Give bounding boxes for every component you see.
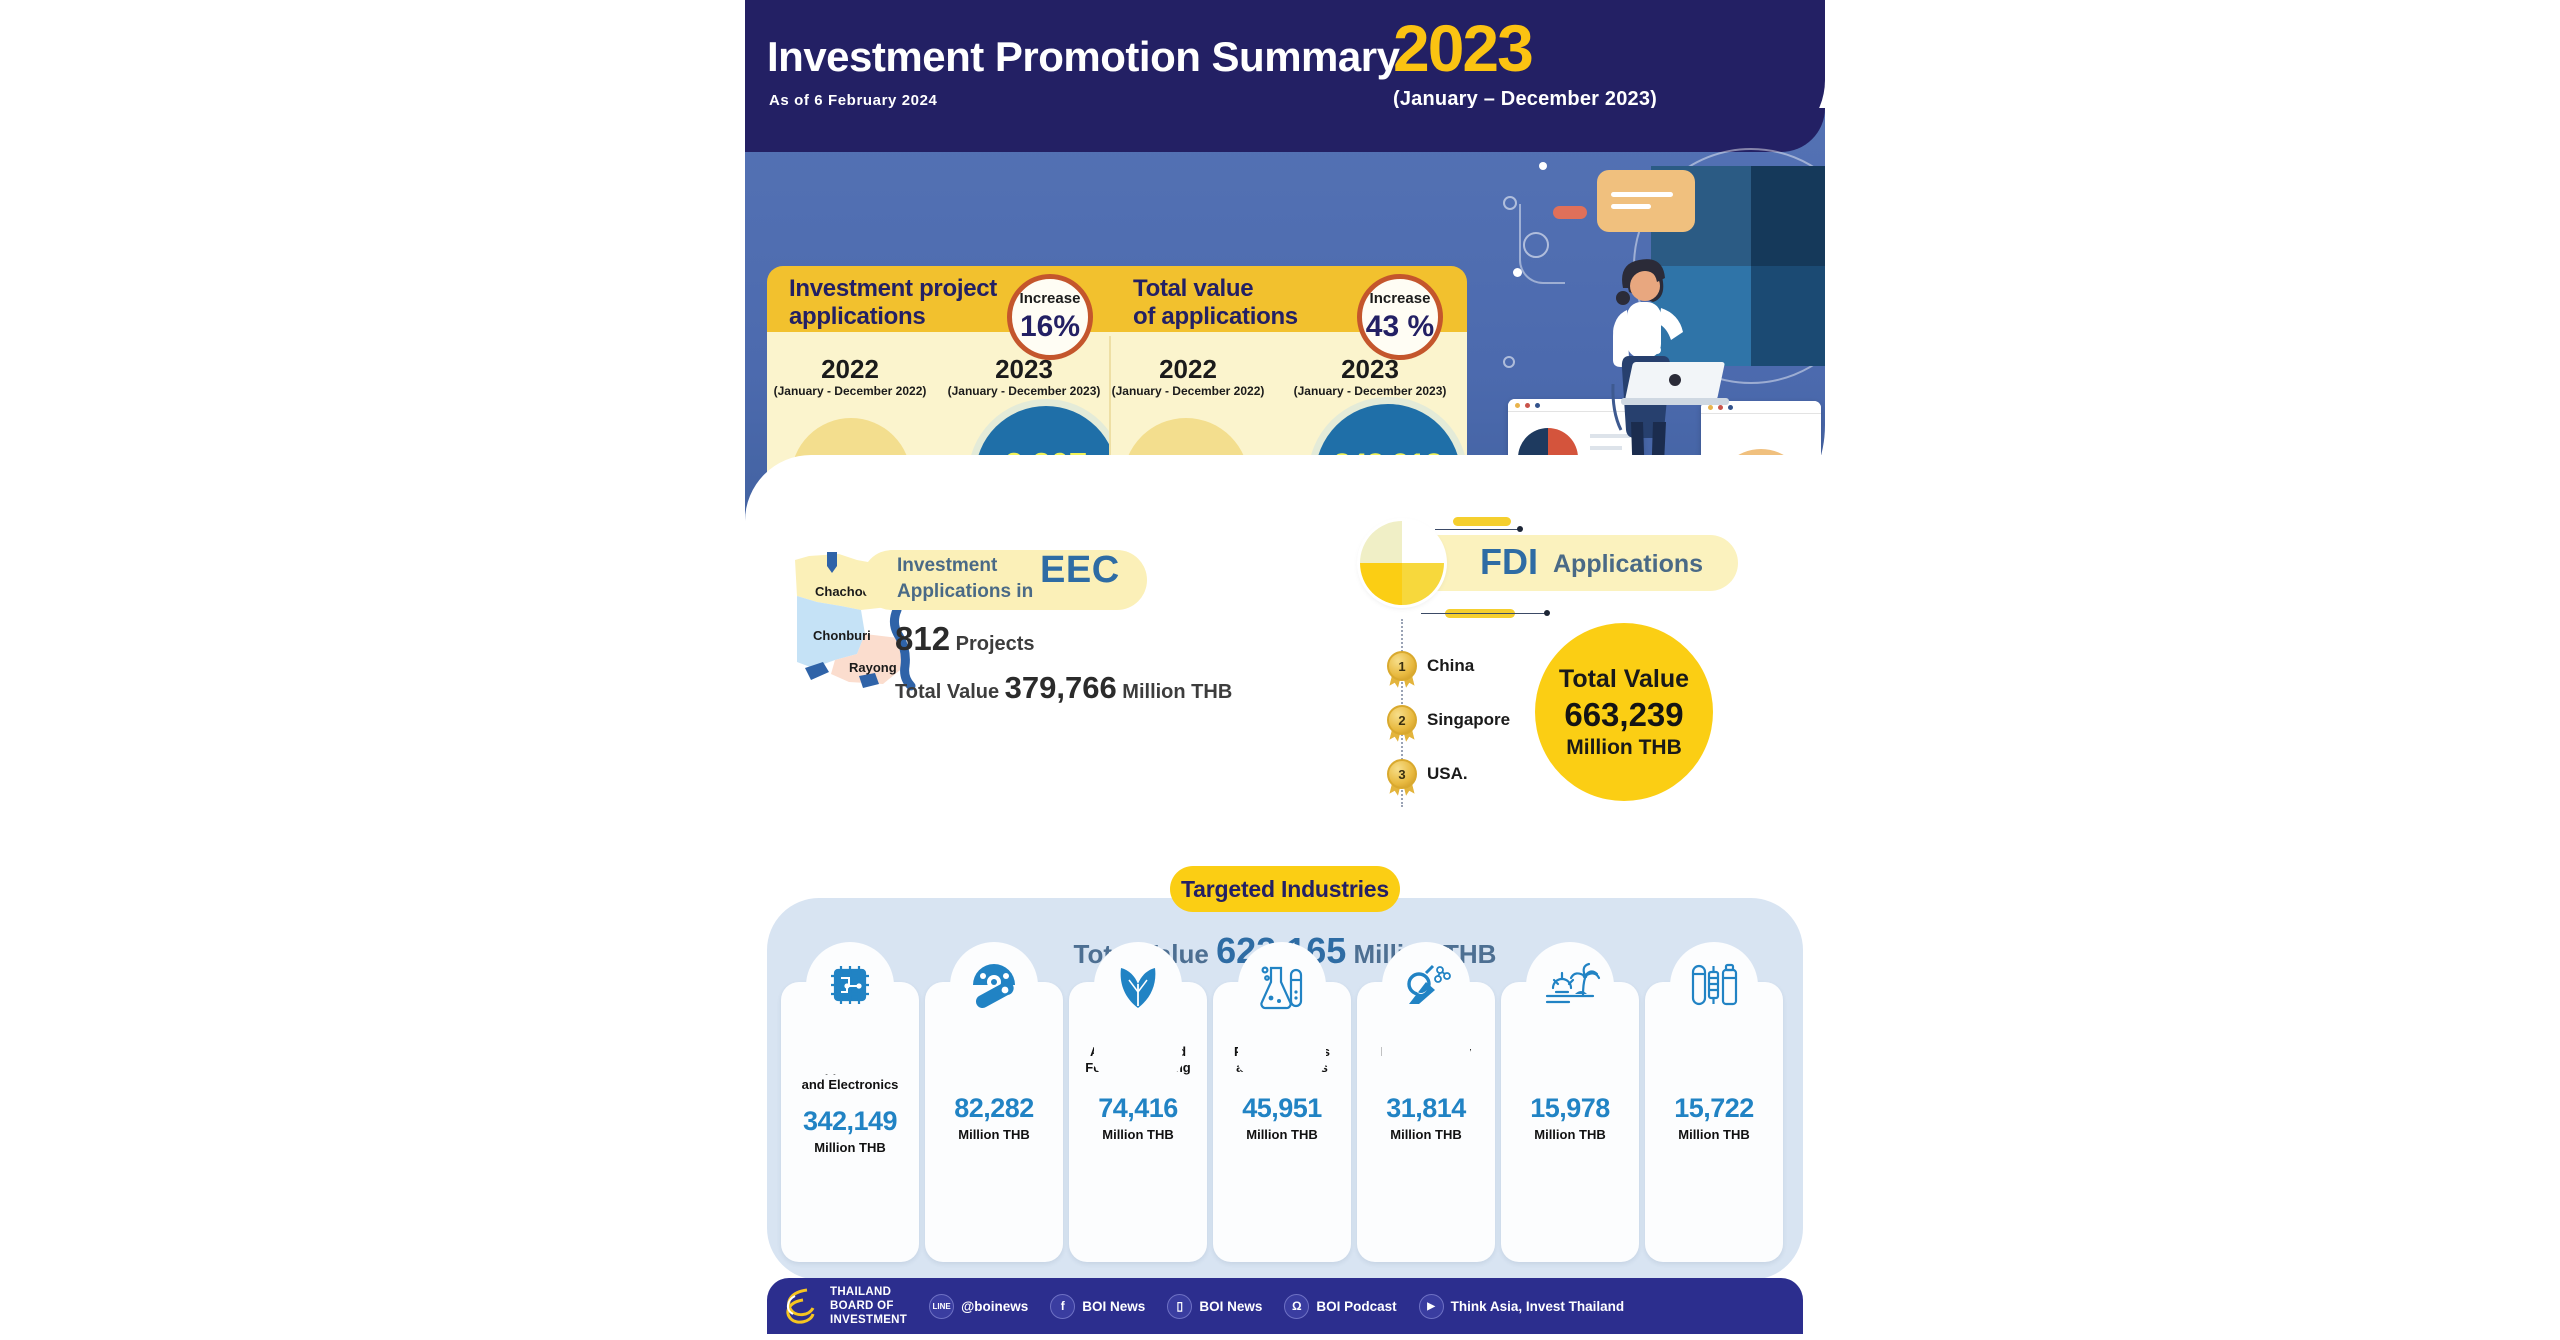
social-label: BOI Podcast xyxy=(1316,1299,1396,1314)
increase-badge: Increase 43 % xyxy=(1357,274,1443,360)
increase-label: Increase xyxy=(1012,290,1088,307)
industry-name-line2: and Electronics xyxy=(802,1077,899,1092)
infographic-poster: Investment Promotion Summary 2023 As of … xyxy=(745,0,1825,1340)
header-year: 2023 xyxy=(1393,10,1532,86)
industry-value: 74,416 xyxy=(1069,1093,1207,1124)
fdi-total-label: Total Value xyxy=(1559,664,1689,694)
industry-card-list: Electrical Appliances and Electronics 34… xyxy=(781,982,1791,1262)
industry-card[interactable]: Automotive and Parts 82,282 Million THB xyxy=(925,982,1063,1262)
boi-line1: THAILAND xyxy=(830,1285,907,1299)
decor-dot xyxy=(1653,346,1661,354)
prev-period: (January - December 2022) xyxy=(1103,384,1273,398)
eec-acronym: EEC xyxy=(1040,549,1120,592)
medal-icon: 2 xyxy=(1387,705,1417,735)
social-label: BOI News xyxy=(1199,1299,1262,1314)
industry-card[interactable]: Petrochemicals and Chemicals 45,951 Mill… xyxy=(1213,982,1351,1262)
line-icon: LINE xyxy=(929,1294,954,1319)
microscope-icon xyxy=(1395,954,1457,1016)
eec-projects-word: Projects xyxy=(956,633,1035,655)
facebook-icon: f xyxy=(1050,1294,1075,1319)
social-link-youtube[interactable]: ▶ Think Asia, Invest Thailand xyxy=(1419,1294,1625,1319)
podcast-icon: Ω xyxy=(1284,1294,1309,1319)
fdi-total-unit: Million THB xyxy=(1566,735,1681,760)
province-label-rayong: Rayong xyxy=(849,660,897,675)
leader-dot xyxy=(1544,610,1550,616)
eec-total-value: 379,766 xyxy=(1005,670,1117,705)
fdi-title-sub: Applications xyxy=(1553,550,1703,579)
leader-line xyxy=(1435,529,1521,530)
beach-palm-icon xyxy=(1539,954,1601,1016)
prev-year: 2022 xyxy=(775,354,925,385)
social-link-mobile[interactable]: ▯ BOI News xyxy=(1167,1294,1262,1319)
medal-rank-number: 1 xyxy=(1387,651,1417,681)
youtube-icon: ▶ xyxy=(1419,1294,1444,1319)
stat-panel-title: Investment project applications xyxy=(789,275,997,331)
decor-dot xyxy=(1621,324,1635,338)
mobile-icon: ▯ xyxy=(1167,1294,1192,1319)
industry-value: 15,978 xyxy=(1501,1093,1639,1124)
industry-card[interactable]: Tourism 15,978 Million THB xyxy=(1501,982,1639,1262)
social-label: BOI News xyxy=(1082,1299,1145,1314)
decor-tab xyxy=(1453,517,1511,526)
industry-card[interactable]: Biotechnology 31,814 Million THB xyxy=(1357,982,1495,1262)
medal-icon: 1 xyxy=(1387,651,1417,681)
increase-label: Increase xyxy=(1362,290,1438,307)
industry-unit: Million THB xyxy=(1213,1127,1351,1142)
eec-label-line1: Investment xyxy=(897,555,997,577)
eec-projects-value: 812 xyxy=(895,620,950,657)
decor-dot xyxy=(1539,162,1547,170)
targeted-industries-label: Targeted Industries xyxy=(1181,876,1389,903)
leader-line xyxy=(1421,613,1547,614)
industry-value: 82,282 xyxy=(925,1093,1063,1124)
stat-panel-title: Total value of applications xyxy=(1133,275,1298,331)
mid-section: Chachoengsao Chonburi Rayong Investment … xyxy=(745,455,1825,865)
medal-rank-number: 2 xyxy=(1387,705,1417,735)
industry-value: 15,722 xyxy=(1645,1093,1783,1124)
fdi-title-main: FDI xyxy=(1480,541,1538,583)
industry-unit: Million THB xyxy=(1069,1127,1207,1142)
stat-title-line1: Total value xyxy=(1133,275,1253,302)
social-link-facebook[interactable]: f BOI News xyxy=(1050,1294,1145,1319)
curr-period: (January - December 2023) xyxy=(1285,384,1455,398)
eec-total: Total Value 379,766 Million THB xyxy=(895,670,1232,706)
stat-title-line2: of applications xyxy=(1133,303,1298,330)
boi-logo-mark xyxy=(781,1286,823,1326)
social-link-podcast[interactable]: Ω BOI Podcast xyxy=(1284,1294,1396,1319)
as-of-date: As of 6 February 2024 xyxy=(769,92,938,109)
medal-icon: 3 xyxy=(1387,759,1417,789)
fdi-total-value: 663,239 xyxy=(1564,694,1683,735)
industry-unit: Million THB xyxy=(1357,1127,1495,1142)
province-label-chonburi: Chonburi xyxy=(813,628,871,643)
social-link-line[interactable]: LINE @boinews xyxy=(929,1294,1028,1319)
eec-projects: 812 Projects xyxy=(895,620,1035,658)
industry-unit: Million THB xyxy=(1501,1127,1639,1142)
industry-value: 342,149 xyxy=(781,1106,919,1137)
eec-total-unit: Million THB xyxy=(1122,681,1232,703)
curr-year: 2023 xyxy=(949,354,1099,385)
fdi-country-name: Singapore xyxy=(1427,710,1510,730)
curr-period: (January - December 2023) xyxy=(939,384,1109,398)
boi-logo-text: THAILAND BOARD OF INVESTMENT xyxy=(830,1285,907,1327)
prev-year: 2022 xyxy=(1113,354,1263,385)
leaf-icon xyxy=(1107,954,1169,1016)
fdi-rank-2: 2 Singapore xyxy=(1387,705,1510,735)
eec-total-label: Total Value xyxy=(895,681,999,703)
fdi-country-name: China xyxy=(1427,656,1474,676)
page-title: Investment Promotion Summary xyxy=(767,33,1399,81)
stat-title-line2: applications xyxy=(789,303,925,330)
medal-rank-number: 3 xyxy=(1387,759,1417,789)
industry-unit: Million THB xyxy=(781,1140,919,1155)
prev-period: (January - December 2022) xyxy=(765,384,935,398)
fdi-rank-3: 3 USA. xyxy=(1387,759,1468,789)
stat-title-line1: Investment project xyxy=(789,275,997,302)
pie-chart-icon xyxy=(1360,521,1444,605)
footer-bar: THAILAND BOARD OF INVESTMENT LINE @boine… xyxy=(767,1278,1803,1334)
social-label: Think Asia, Invest Thailand xyxy=(1451,1299,1625,1314)
increase-value: 43 % xyxy=(1362,310,1438,344)
industry-value: 31,814 xyxy=(1357,1093,1495,1124)
curr-year: 2023 xyxy=(1295,354,1445,385)
industry-value: 45,951 xyxy=(1213,1093,1351,1124)
industry-card[interactable]: Agriculture and Food Processing 74,416 M… xyxy=(1069,982,1207,1262)
boi-line3: INVESTMENT xyxy=(830,1313,907,1327)
speech-bubble-icon xyxy=(1597,170,1695,232)
fdi-country-name: USA. xyxy=(1427,764,1468,784)
gear-wrench-icon xyxy=(963,954,1025,1016)
decor-ring-small xyxy=(1503,196,1517,210)
industry-card[interactable]: Electrical Appliances and Electronics 34… xyxy=(781,982,919,1262)
boi-line2: BOARD OF xyxy=(830,1299,907,1313)
leader-dot xyxy=(1517,526,1523,532)
industry-unit: Million THB xyxy=(925,1127,1063,1142)
fdi-rank-1: 1 China xyxy=(1387,651,1474,681)
industry-card[interactable]: Medical 15,722 Million THB xyxy=(1645,982,1783,1262)
vial-syringe-icon xyxy=(1683,954,1745,1016)
targeted-industries-pill: Targeted Industries xyxy=(1170,866,1400,912)
microchip-icon xyxy=(819,954,881,1016)
poster-canvas: Investment Promotion Summary 2023 As of … xyxy=(0,0,2560,1340)
decor-ring-small xyxy=(1503,356,1515,368)
increase-badge: Increase 16% xyxy=(1007,274,1093,360)
decor-line xyxy=(1519,204,1565,284)
eec-label-line2: Applications in xyxy=(897,581,1033,603)
industry-unit: Million THB xyxy=(1645,1127,1783,1142)
boi-logo: THAILAND BOARD OF INVESTMENT xyxy=(781,1285,907,1327)
flask-icon xyxy=(1251,954,1313,1016)
fdi-total-value-circle: Total Value 663,239 Million THB xyxy=(1535,623,1713,801)
increase-value: 16% xyxy=(1012,310,1088,344)
social-label: @boinews xyxy=(961,1299,1028,1314)
